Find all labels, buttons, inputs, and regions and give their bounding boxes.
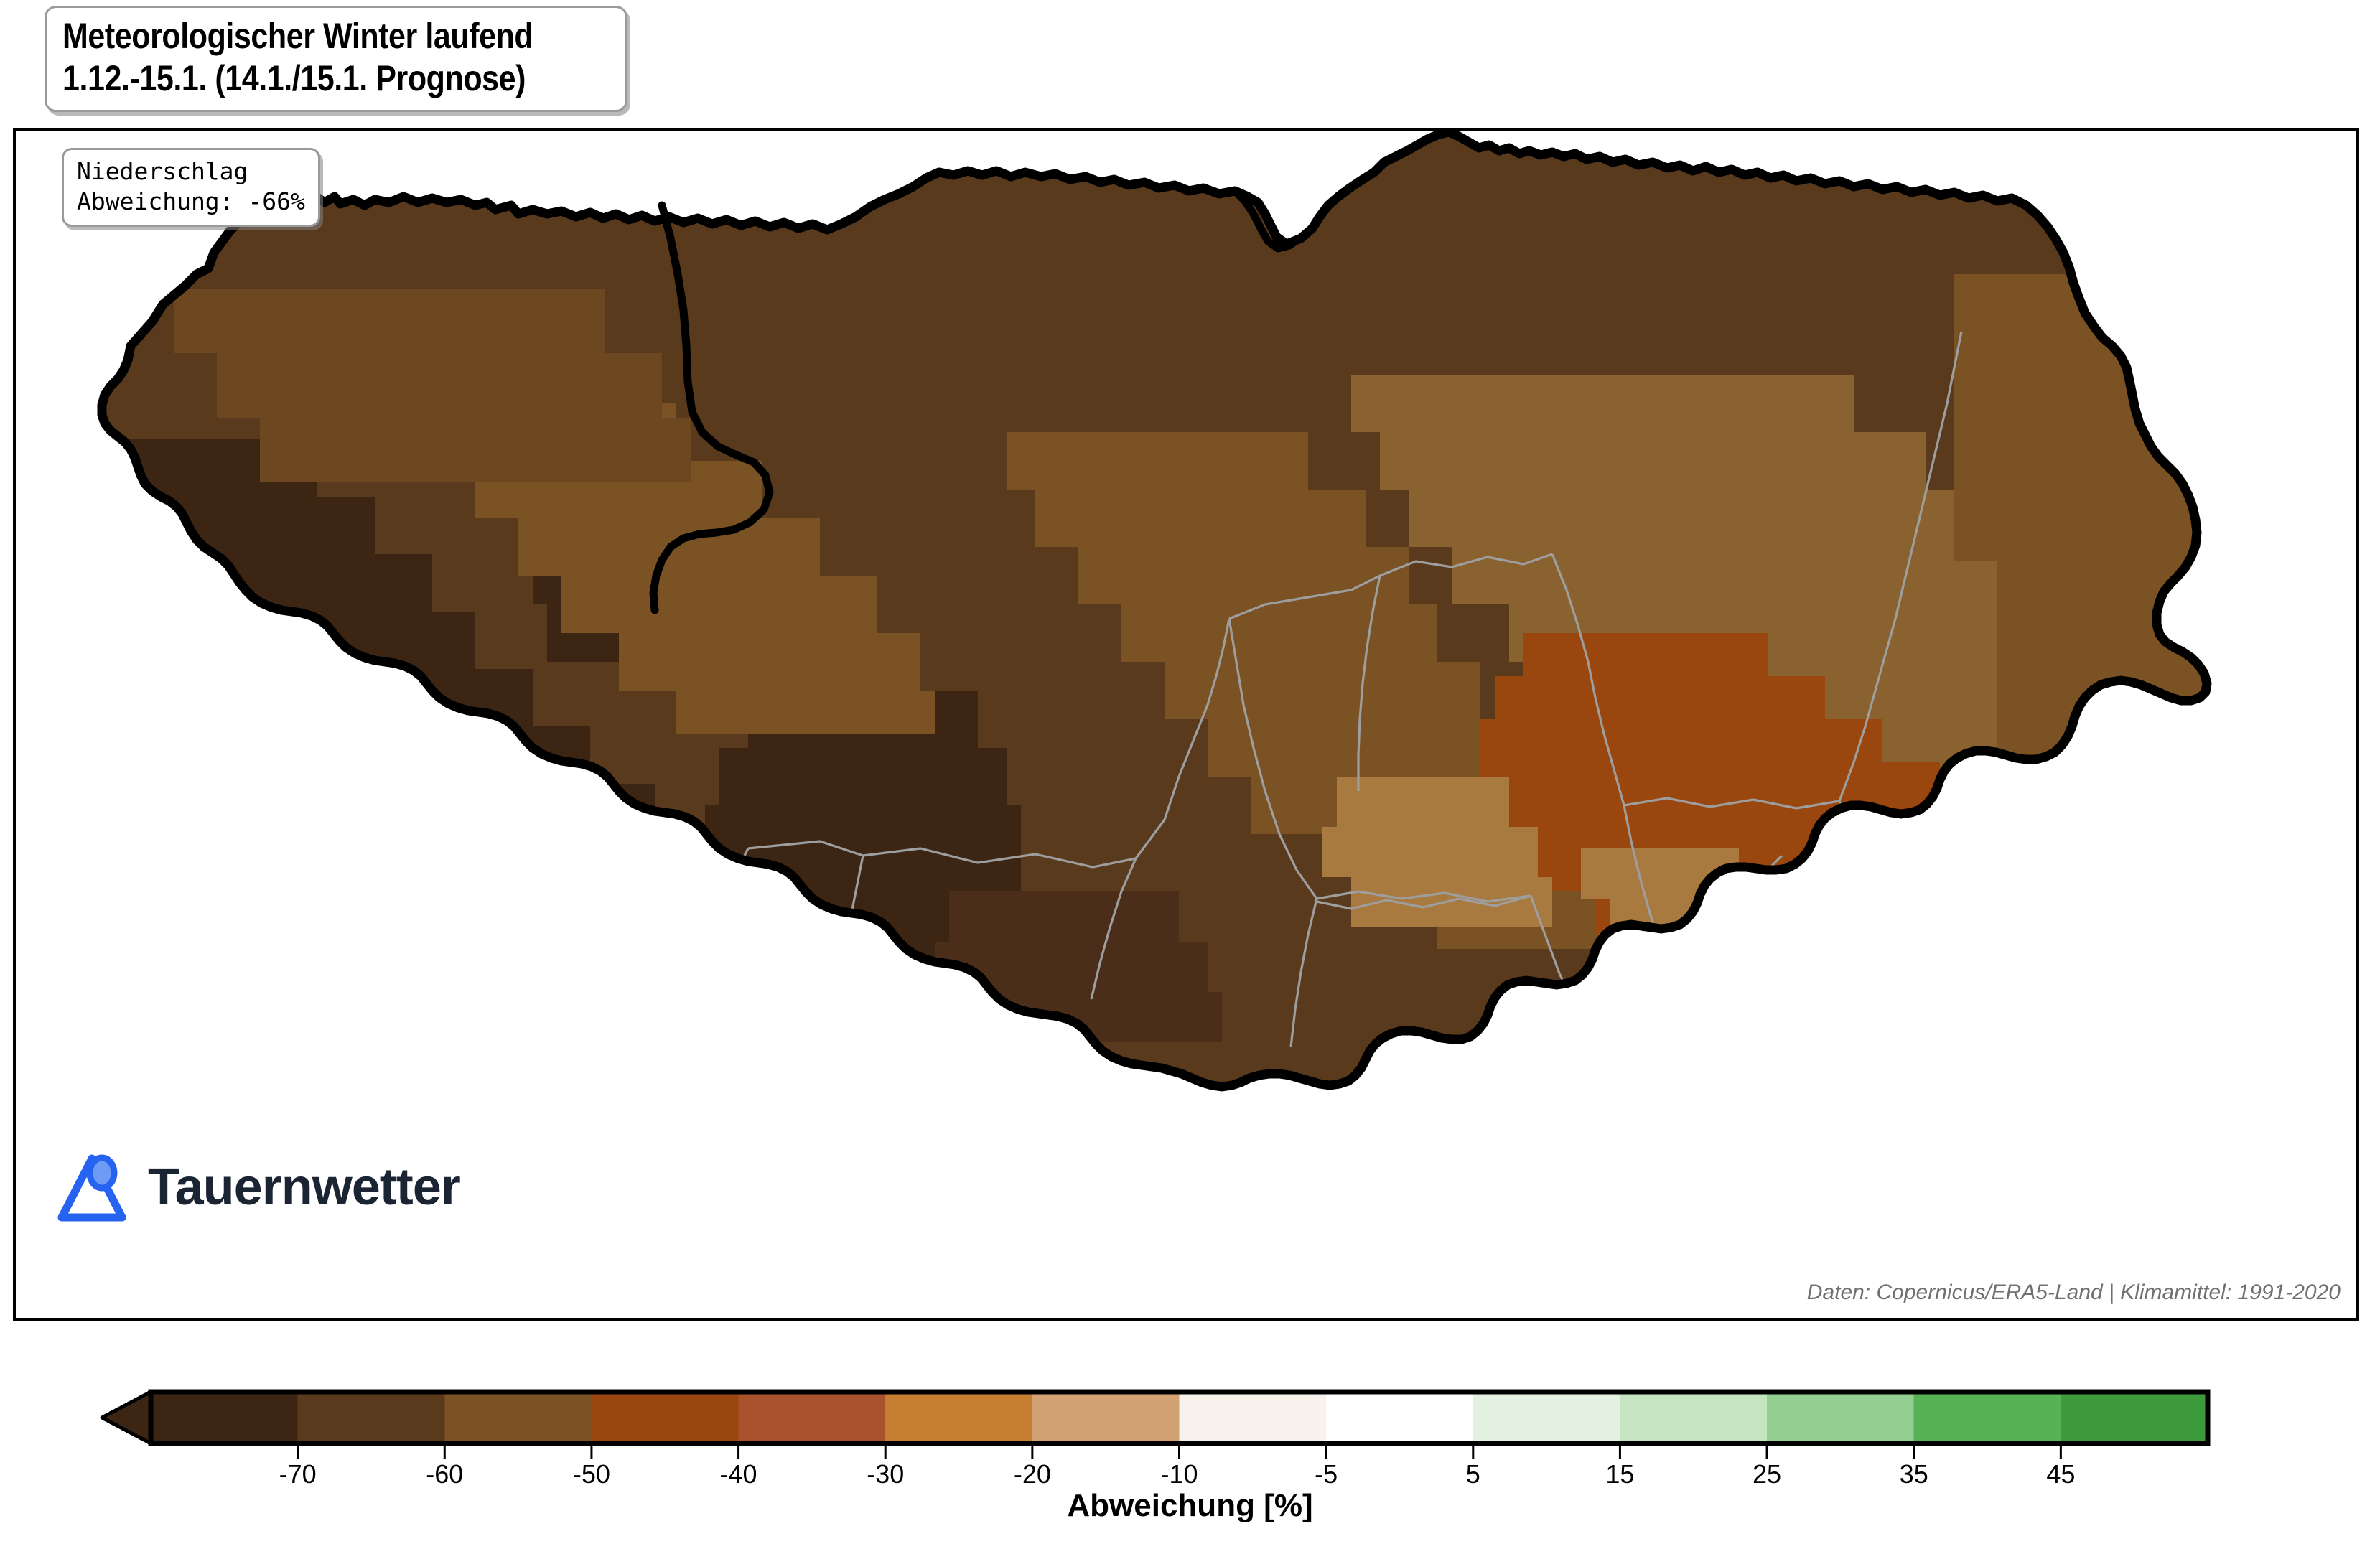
anomaly-raster bbox=[16, 131, 2359, 1321]
info-box: Niederschlag Abweichung: -66% bbox=[62, 148, 320, 227]
brand-name: Tauernwetter bbox=[148, 1158, 460, 1217]
colorbar-tick-45: 45 bbox=[2046, 1459, 2075, 1489]
colorbar-tick-minus50: -50 bbox=[573, 1459, 610, 1489]
info-line-variable: Niederschlag bbox=[77, 156, 305, 187]
colorbar-tick-minus30: -30 bbox=[867, 1459, 904, 1489]
title-line-1: Meteorologischer Winter laufend bbox=[62, 15, 533, 57]
info-line-deviation: Abweichung: -66% bbox=[77, 187, 305, 217]
colorbar-tick-minus60: -60 bbox=[426, 1459, 463, 1489]
colorbar-tick-25: 25 bbox=[1753, 1459, 1781, 1489]
colorbar-tick-minus20: -20 bbox=[1014, 1459, 1051, 1489]
title-box: Meteorologischer Winter laufend 1.12.-15… bbox=[45, 6, 627, 112]
colorbar-tick-minus70: -70 bbox=[279, 1459, 317, 1489]
title-line-2: 1.12.-15.1. (14.1./15.1. Prognose) bbox=[62, 57, 533, 100]
colorbar-tick-15: 15 bbox=[1605, 1459, 1634, 1489]
brand-logo: Tauernwetter bbox=[52, 1148, 460, 1226]
colorbar-tick-35: 35 bbox=[1900, 1459, 1928, 1489]
colorbar-tick-minus10: -10 bbox=[1160, 1459, 1198, 1489]
map-frame: Niederschlag Abweichung: -66% Tauernwett… bbox=[13, 128, 2359, 1321]
colorbar-tick-5: 5 bbox=[1466, 1459, 1480, 1489]
colorbar-axis-label: Abweichung [%] bbox=[0, 1488, 2380, 1524]
precipitation-anomaly-map bbox=[16, 131, 2359, 1321]
mountain-icon bbox=[52, 1148, 132, 1226]
data-attribution: Daten: Copernicus/ERA5-Land | Klimamitte… bbox=[1807, 1281, 2341, 1305]
colorbar-tick-minus5: -5 bbox=[1315, 1459, 1338, 1489]
colorbar-tick-minus40: -40 bbox=[720, 1459, 757, 1489]
colorbar: -70-60-50-40-30-20-10-5515253545 Abweich… bbox=[0, 1382, 2380, 1554]
